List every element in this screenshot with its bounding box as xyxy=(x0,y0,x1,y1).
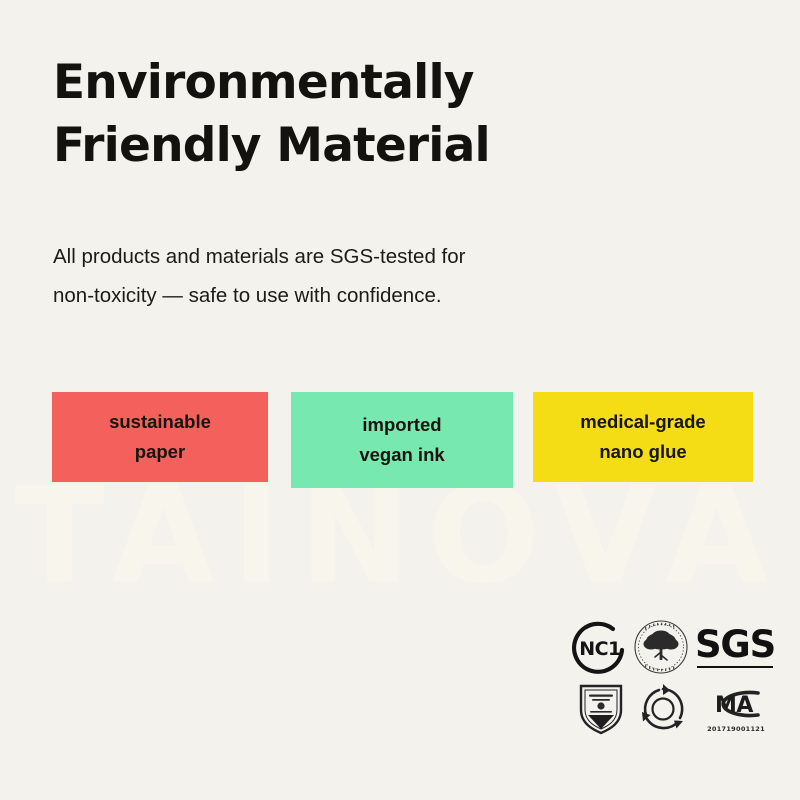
sgs-underline xyxy=(697,666,773,669)
certification-logos: NC1 xyxy=(572,618,778,750)
material-card-label-line-1: sustainable xyxy=(109,407,211,437)
page-subtitle: All products and materials are SGS-teste… xyxy=(53,237,653,316)
page-subtitle-line-2: non-toxicity — safe to use with confiden… xyxy=(53,276,653,315)
page-title-line-2: Friendly Material xyxy=(53,115,653,178)
page-title-line-1: Environmentally xyxy=(53,52,653,115)
cma-certificate-number: 201719001121 xyxy=(707,725,765,733)
poster-canvas: TAINOVA Environmentally Friendly Materia… xyxy=(0,0,800,800)
tree-seal-certification-icon xyxy=(630,618,692,676)
svg-text:MA: MA xyxy=(715,693,753,718)
material-card-medical-grade-nano-glue: medical-grade nano glue xyxy=(533,392,753,482)
material-card-label-line-1: medical-grade xyxy=(580,407,705,437)
nc1-certification-icon: NC1 xyxy=(572,619,628,675)
shield-certification-icon xyxy=(574,680,628,738)
page-subtitle-line-1: All products and materials are SGS-teste… xyxy=(53,237,653,276)
material-card-label-line-2: vegan ink xyxy=(359,440,444,470)
page-title: Environmentally Friendly Material xyxy=(53,52,653,177)
certification-row-top: NC1 xyxy=(572,618,778,676)
recycling-certification-icon xyxy=(634,680,692,738)
material-card-imported-vegan-ink: imported vegan ink xyxy=(291,392,513,488)
svg-text:NC1: NC1 xyxy=(579,638,621,660)
certification-row-bottom: MA 201719001121 xyxy=(572,680,778,738)
material-card-label-line-1: imported xyxy=(362,410,441,440)
material-card-label-line-2: nano glue xyxy=(599,437,686,467)
material-card-label-line-2: paper xyxy=(135,437,185,467)
sgs-certification-icon: SGS xyxy=(693,619,777,675)
sgs-wordmark: SGS xyxy=(695,626,775,663)
material-card-sustainable-paper: sustainable paper xyxy=(52,392,268,482)
material-card-list: sustainable paper imported vegan ink med… xyxy=(52,392,752,492)
cma-certification-icon: MA 201719001121 xyxy=(694,680,778,738)
